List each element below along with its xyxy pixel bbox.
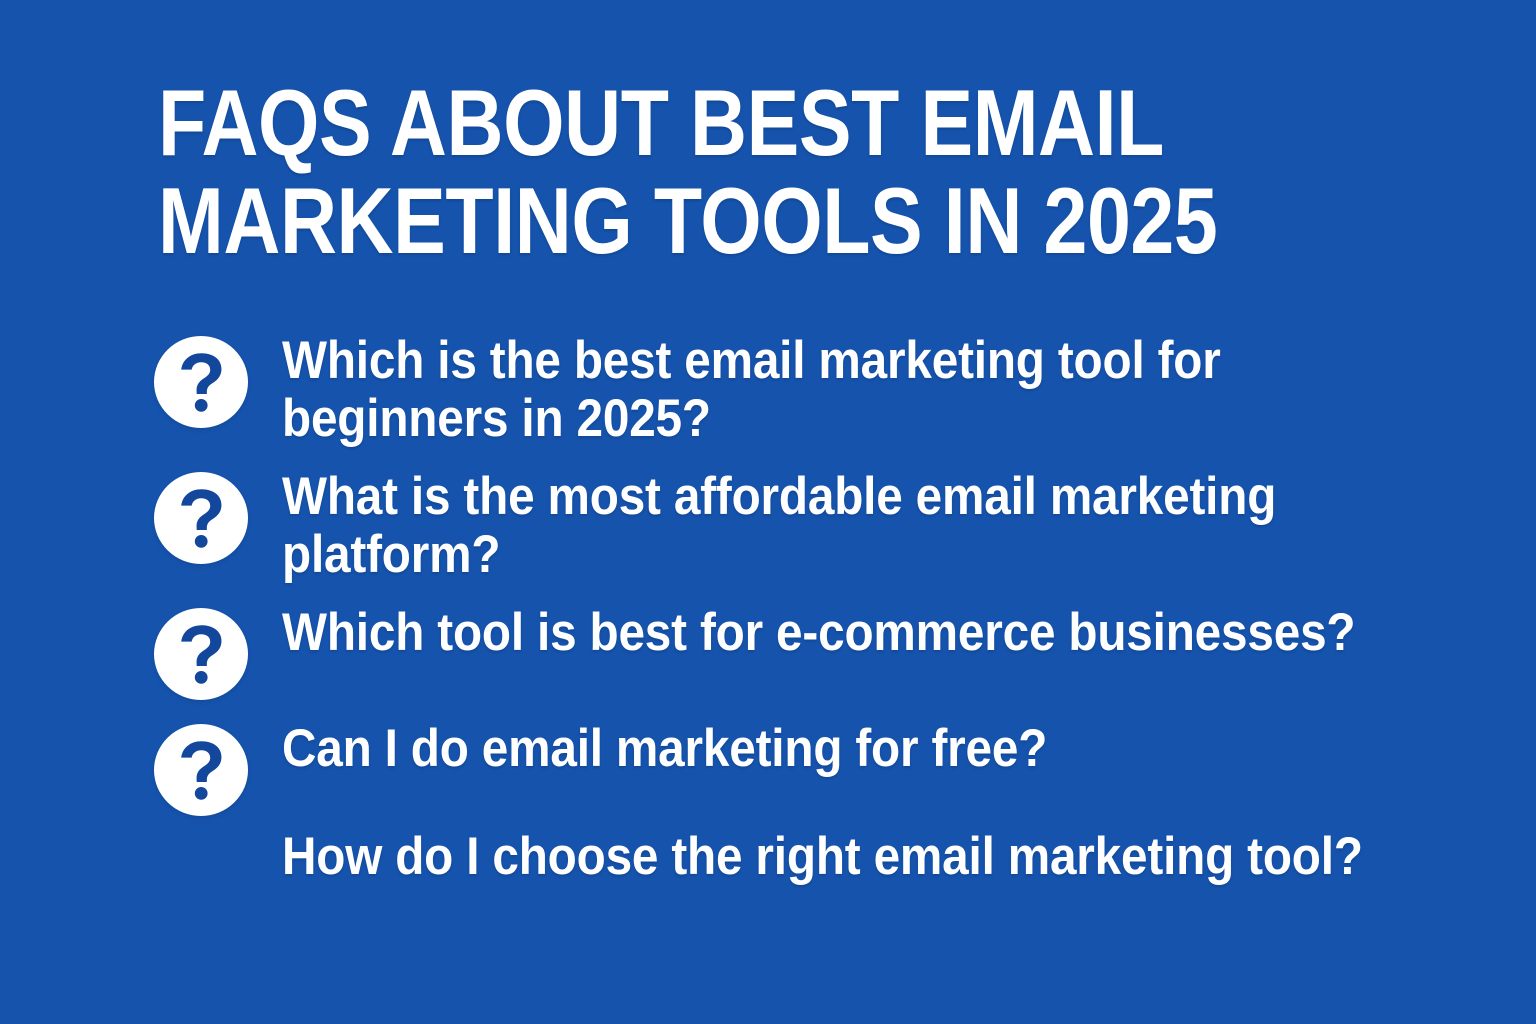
page-title-line-2: MARKETING TOOLS IN 2025: [158, 172, 1166, 270]
faq-item-2: What is the most affordable email market…: [154, 466, 1484, 584]
page-title-line-1: FAQs ABOUT BEST EMAIL: [158, 74, 1166, 172]
question-mark-icon: [154, 336, 248, 428]
faq-question-text: What is the most affordable email market…: [282, 466, 1364, 584]
page-title: FAQs ABOUT BEST EMAIL MARKETING TOOLS IN…: [158, 74, 1358, 270]
faq-graphic-canvas: FAQs ABOUT BEST EMAIL MARKETING TOOLS IN…: [0, 0, 1536, 1024]
faq-item-3: Which tool is best for e-commerce busine…: [154, 602, 1484, 700]
faq-question-text: Which is the best email marketing tool f…: [282, 330, 1364, 448]
question-mark-icon: [154, 724, 248, 816]
badge-placeholder: [154, 832, 248, 924]
question-mark-icon: [154, 608, 248, 700]
faq-question-text: Can I do email marketing for free?: [282, 718, 1364, 778]
faq-item-1: Which is the best email marketing tool f…: [154, 330, 1484, 448]
faq-question-text: Which tool is best for e-commerce busine…: [282, 602, 1364, 662]
faq-list: Which is the best email marketing tool f…: [154, 330, 1484, 924]
faq-question-text: How do I choose the right email marketin…: [282, 826, 1364, 886]
faq-item-4: Can I do email marketing for free?: [154, 718, 1484, 816]
question-mark-icon: [154, 472, 248, 564]
faq-item-5: How do I choose the right email marketin…: [154, 826, 1484, 924]
